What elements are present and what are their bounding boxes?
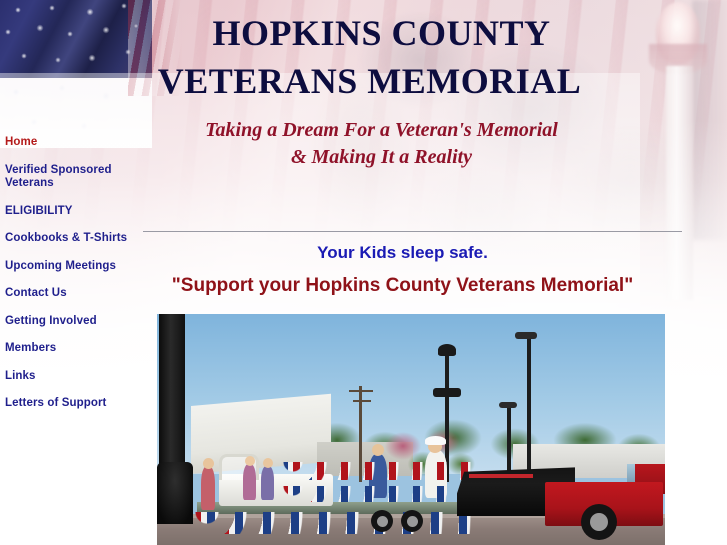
photo-light-pole (527, 336, 531, 486)
photo-light-pole-head (515, 332, 537, 339)
site-title-line-2: VETERANS MEMORIAL (6, 60, 727, 102)
photo-truck-wheel (581, 504, 617, 540)
sidebar-item-eligibility[interactable]: ELIGIBILITY (0, 205, 140, 219)
sidebar-item-contact-us[interactable]: Contact Us (0, 287, 140, 301)
site-title-line-1: HOPKINS COUNTY (18, 12, 727, 54)
photo-street-lamp-arms (433, 388, 461, 397)
sidebar-item-letters-of-support[interactable]: Letters of Support (0, 397, 140, 411)
sidebar-item-members[interactable]: Members (0, 342, 140, 356)
photo-bunting-upper (281, 462, 471, 480)
sidebar-navigation: Home Verified Sponsored Veterans ELIGIBI… (0, 136, 140, 425)
photo-person-head (245, 456, 255, 466)
parade-float-photo[interactable] (157, 314, 665, 545)
photo-trailer-stripe (469, 474, 533, 478)
photo-person-body (261, 466, 274, 500)
headline-secondary: "Support your Hopkins County Veterans Me… (140, 275, 665, 297)
photo-person-body (243, 464, 256, 500)
content-divider (143, 231, 682, 232)
photo-pillar-base (157, 462, 193, 524)
sidebar-item-verified-sponsored-veterans[interactable]: Verified Sponsored Veterans (0, 164, 140, 191)
photo-trailer-wheel (401, 510, 423, 532)
photo-person-body (201, 466, 215, 510)
photo-bunting-lower (193, 512, 475, 534)
photo-utility-crossarm-1 (349, 390, 373, 392)
photo-trailer-wheel (371, 510, 393, 532)
photo-person-head (372, 444, 384, 456)
page-root: HOPKINS COUNTY VETERANS MEMORIAL Taking … (0, 0, 727, 545)
sidebar-item-cookbooks-tshirts[interactable]: Cookbooks & T-Shirts (0, 232, 140, 246)
sidebar-item-links[interactable]: Links (0, 370, 140, 384)
headline-primary: Your Kids sleep safe. (140, 243, 665, 263)
photo-white-hat-icon (425, 436, 446, 445)
photo-light-pole-2-head (499, 402, 517, 408)
photo-person-head (263, 458, 273, 468)
photo-street-lamp-head (438, 344, 456, 356)
sidebar-item-home[interactable]: Home (0, 136, 140, 150)
photo-utility-crossarm-2 (353, 400, 371, 402)
sidebar-item-getting-involved[interactable]: Getting Involved (0, 315, 140, 329)
sidebar-item-upcoming-meetings[interactable]: Upcoming Meetings (0, 260, 140, 274)
photo-person-head (203, 458, 214, 469)
photo-bunting-middle (281, 486, 471, 502)
